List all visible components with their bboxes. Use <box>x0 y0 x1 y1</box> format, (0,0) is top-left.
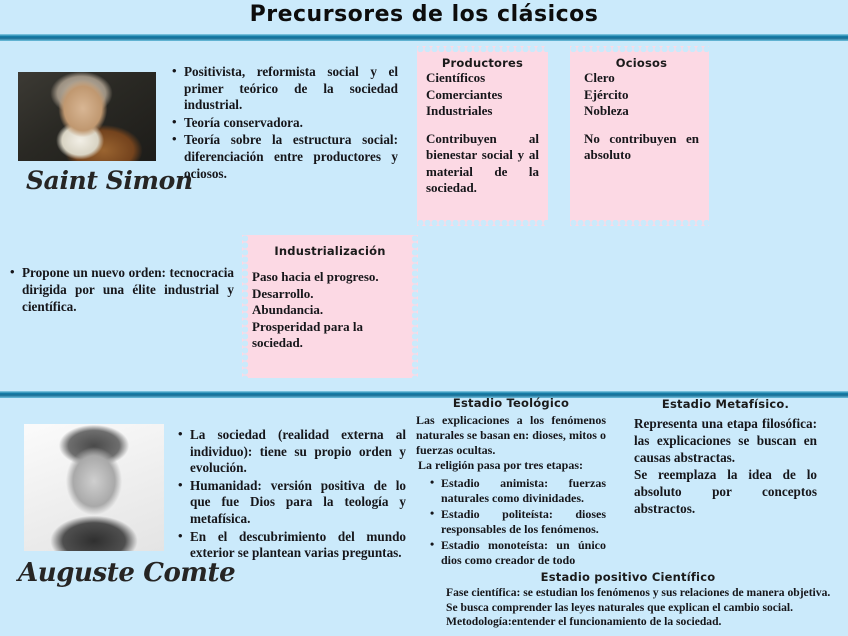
list-item: Teoría conservadora. <box>172 115 398 132</box>
column-estadio-positivo: Estadio positivo Científico Fase científ… <box>418 570 838 630</box>
divider-top <box>0 34 848 41</box>
card-industrializacion: Industrialización Paso hacia el progreso… <box>242 235 418 378</box>
list-item: Estadio monoteísta: un único dios como c… <box>430 538 606 568</box>
card-productores-note: Contribuyen al bienestar social y al mat… <box>426 131 539 197</box>
list-item: Paso hacia el progreso. <box>252 269 408 286</box>
scallop-edge-bottom <box>417 220 548 226</box>
card-ociosos-items: Clero Ejército Nobleza <box>584 70 699 120</box>
saint-simon-name-label: Saint Simon <box>26 166 193 195</box>
card-ociosos: Ociosos Clero Ejército Nobleza No contri… <box>570 46 709 226</box>
list-item: La sociedad (realidad externa al individ… <box>178 427 406 477</box>
scallop-edge-bottom <box>570 220 709 226</box>
list-item: Nobleza <box>584 103 699 120</box>
column-estadio-teologico: Estadio Teológico Las explicaciones a lo… <box>416 396 606 569</box>
spacer <box>252 258 408 269</box>
estadio-metafisico-paragraph: Representa una etapa filosófica: las exp… <box>634 415 817 466</box>
list-item: Clero <box>584 70 699 87</box>
list-item: Metodología:entender el funcionamiento d… <box>446 615 838 630</box>
list-item: Prosperidad para la sociedad. <box>252 319 408 352</box>
card-productores: Productores Científicos Comerciantes Ind… <box>417 46 548 226</box>
estadio-teologico-intro: Las explicaciones a los fenómenos natura… <box>416 413 606 458</box>
list-item: Estadio politeísta: dioses responsables … <box>430 507 606 537</box>
infographic-page: Precursores de los clásicos Saint Simon … <box>0 0 848 636</box>
estadio-positivo-lines: Fase científica: se estudian los fenómen… <box>418 586 838 630</box>
estadio-positivo-heading: Estadio positivo Científico <box>418 570 838 584</box>
card-productores-heading: Productores <box>426 56 539 70</box>
card-industrializacion-heading: Industrialización <box>252 244 408 258</box>
list-item: Positivista, reformista social y el prim… <box>172 64 398 114</box>
list-item: Científicos <box>426 70 539 87</box>
estadio-metafisico-paragraph: Se reemplaza la idea de lo absoluto por … <box>634 466 817 517</box>
estadio-metafisico-heading: Estadio Metafísico. <box>634 396 817 413</box>
saint-simon-bullet-list: Positivista, reformista social y el prim… <box>172 64 398 183</box>
auguste-comte-bullet-list: La sociedad (realidad externa al individ… <box>178 427 406 563</box>
list-item: En el descubrimiento del mundo exterior … <box>178 529 406 562</box>
card-productores-items: Científicos Comerciantes Industriales <box>426 70 539 120</box>
list-item: Teoría sobre la estructura social: difer… <box>172 132 398 182</box>
column-estadio-metafisico: Estadio Metafísico. Representa una etapa… <box>634 396 817 517</box>
card-ociosos-heading: Ociosos <box>584 56 699 70</box>
list-item: Industriales <box>426 103 539 120</box>
list-item: Humanidad: versión positiva de lo que fu… <box>178 478 406 528</box>
spacer <box>584 120 699 131</box>
list-item: Se busca comprender las leyes naturales … <box>446 601 838 616</box>
list-item: Abundancia. <box>252 302 408 319</box>
card-ociosos-note: No contribuyen en absoluto <box>584 131 699 164</box>
saint-simon-nuevo-orden-bullet: Propone un nuevo orden: tecnocracia diri… <box>10 265 234 315</box>
card-industrializacion-items: Paso hacia el progreso. Desarrollo. Abun… <box>252 269 408 352</box>
saint-simon-portrait-image <box>18 72 156 161</box>
list-item: Estadio animista: fuerzas naturales como… <box>430 476 606 506</box>
estadio-teologico-heading: Estadio Teológico <box>416 396 606 411</box>
page-title: Precursores de los clásicos <box>0 2 848 27</box>
list-item: Ejército <box>584 87 699 104</box>
list-item: Desarrollo. <box>252 286 408 303</box>
list-item: Comerciantes <box>426 87 539 104</box>
estadio-teologico-subintro: La religión pasa por tres etapas: <box>416 458 606 473</box>
auguste-comte-portrait-image <box>24 424 164 551</box>
estadio-teologico-list: Estadio animista: fuerzas naturales como… <box>416 476 606 568</box>
spacer <box>426 120 539 131</box>
list-item: Fase científica: se estudian los fenómen… <box>446 586 838 601</box>
